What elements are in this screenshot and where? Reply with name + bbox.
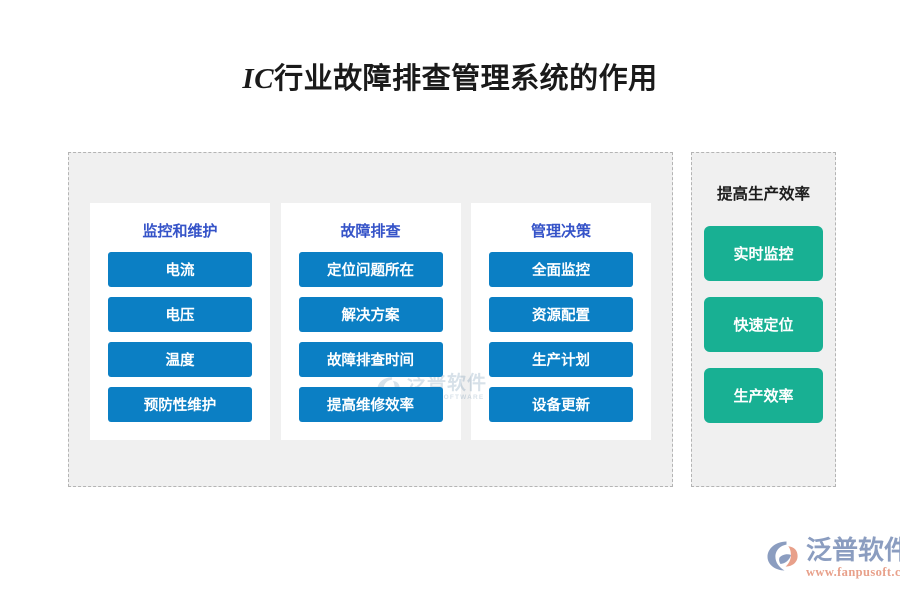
chip-item[interactable]: 预防性维护 xyxy=(108,387,252,422)
side-panel: 提高生产效率 实时监控 快速定位 生产效率 xyxy=(691,152,836,487)
chip-item[interactable]: 生产计划 xyxy=(489,342,633,377)
column-title: 监控和维护 xyxy=(108,220,252,241)
column-card-management: 管理决策 全面监控 资源配置 生产计划 设备更新 xyxy=(471,203,651,440)
logo-website-url: www.fanpusoft.com xyxy=(806,565,900,580)
chip-item[interactable]: 故障排查时间 xyxy=(299,342,443,377)
logo-text-block: 泛普软件 www.fanpusoft.com xyxy=(806,537,900,580)
diagram-container: 监控和维护 电流 电压 温度 预防性维护 故障排查 定位问题所在 解决方案 故障… xyxy=(68,152,834,487)
chip-item[interactable]: 设备更新 xyxy=(489,387,633,422)
main-panel: 监控和维护 电流 电压 温度 预防性维护 故障排查 定位问题所在 解决方案 故障… xyxy=(68,152,673,487)
column-card-monitoring: 监控和维护 电流 电压 温度 预防性维护 xyxy=(90,203,270,440)
page-title: IC行业故障排查管理系统的作用 xyxy=(0,55,900,97)
side-chip-item[interactable]: 生产效率 xyxy=(704,368,823,423)
page-title-cjk: 行业故障排查管理系统的作用 xyxy=(274,63,658,95)
side-panel-title: 提高生产效率 xyxy=(717,182,810,204)
side-chip-item[interactable]: 快速定位 xyxy=(704,297,823,352)
footer-logo: 泛普软件 www.fanpusoft.com xyxy=(766,537,900,580)
chip-item[interactable]: 定位问题所在 xyxy=(299,252,443,287)
column-title: 故障排查 xyxy=(299,220,443,241)
chip-item[interactable]: 温度 xyxy=(108,342,252,377)
column-card-troubleshooting: 故障排查 定位问题所在 解决方案 故障排查时间 提高维修效率 xyxy=(281,203,461,440)
chip-item[interactable]: 解决方案 xyxy=(299,297,443,332)
chip-item[interactable]: 提高维修效率 xyxy=(299,387,443,422)
chip-item[interactable]: 资源配置 xyxy=(489,297,633,332)
side-chip-item[interactable]: 实时监控 xyxy=(704,226,823,281)
chip-item[interactable]: 电压 xyxy=(108,297,252,332)
column-title: 管理决策 xyxy=(489,220,633,241)
chip-item[interactable]: 电流 xyxy=(108,252,252,287)
page-title-latin: IC xyxy=(242,63,274,95)
logo-company-name: 泛普软件 xyxy=(806,537,900,564)
chip-item[interactable]: 全面监控 xyxy=(489,252,633,287)
fanpu-logo-icon xyxy=(766,540,800,572)
